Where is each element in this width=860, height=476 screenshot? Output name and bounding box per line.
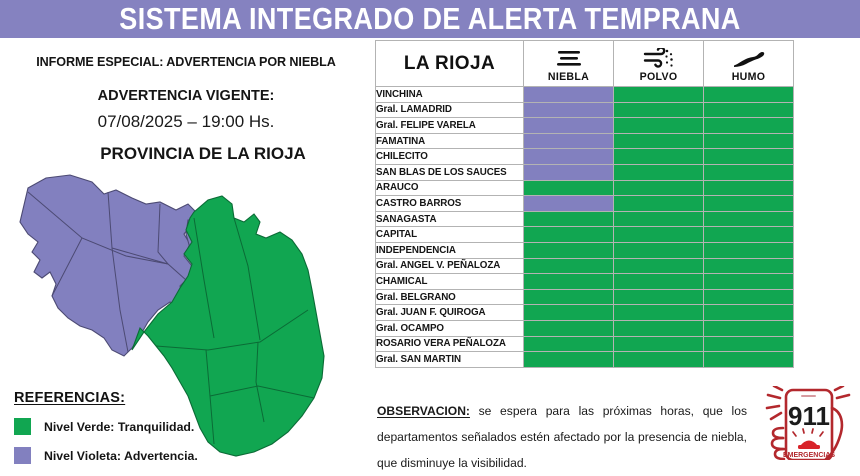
table-row: SANAGASTA xyxy=(376,211,794,227)
status-cell-niebla xyxy=(524,164,614,180)
table-row: ARAUCO xyxy=(376,180,794,196)
status-cell-humo xyxy=(704,274,794,290)
status-cell-polvo xyxy=(614,211,704,227)
status-cell-niebla xyxy=(524,289,614,305)
status-cell-humo xyxy=(704,196,794,212)
status-cell-humo xyxy=(704,320,794,336)
advisory-datetime: 07/08/2025 – 19:00 Hs. xyxy=(0,112,372,132)
references-title: REFERENCIAS: xyxy=(14,390,354,406)
status-cell-niebla xyxy=(524,87,614,103)
status-cell-humo xyxy=(704,211,794,227)
department-name: SANAGASTA xyxy=(376,211,524,227)
status-cell-niebla xyxy=(524,242,614,258)
table-row: SAN BLAS DE LOS SAUCES xyxy=(376,164,794,180)
status-cell-niebla xyxy=(524,336,614,352)
table-row: Gral. FELIPE VARELA xyxy=(376,118,794,134)
status-cell-polvo xyxy=(614,87,704,103)
department-name: Gral. OCAMPO xyxy=(376,320,524,336)
status-cell-polvo xyxy=(614,274,704,290)
status-cell-humo xyxy=(704,289,794,305)
legend-item-green: Nivel Verde: Tranquilidad. xyxy=(14,418,354,435)
status-cell-polvo xyxy=(614,242,704,258)
table-row: Gral. SAN MARTIN xyxy=(376,352,794,368)
department-name: Gral. ANGEL V. PEÑALOZA xyxy=(376,258,524,274)
department-name: CHILECITO xyxy=(376,149,524,165)
status-cell-polvo xyxy=(614,118,704,134)
status-cell-humo xyxy=(704,133,794,149)
observation-note: OBSERVACION: se espera para las próximas… xyxy=(377,398,747,476)
department-name: Gral. BELGRANO xyxy=(376,289,524,305)
status-cell-humo xyxy=(704,180,794,196)
column-header-niebla: NIEBLA xyxy=(524,41,614,87)
fog-icon xyxy=(554,47,584,71)
status-cell-humo xyxy=(704,102,794,118)
status-cell-humo xyxy=(704,352,794,368)
status-cell-humo xyxy=(704,227,794,243)
page-banner: SISTEMA INTEGRADO DE ALERTA TEMPRANA xyxy=(0,0,860,38)
status-cell-niebla xyxy=(524,274,614,290)
alert-table: LA RIOJA NIEBLA xyxy=(375,40,794,368)
left-panel: INFORME ESPECIAL: ADVERTENCIA POR NIEBLA… xyxy=(0,38,372,460)
status-cell-humo xyxy=(704,164,794,180)
green-swatch xyxy=(14,418,31,435)
status-cell-humo xyxy=(704,149,794,165)
status-cell-polvo xyxy=(614,352,704,368)
department-name: FAMATINA xyxy=(376,133,524,149)
status-cell-niebla xyxy=(524,227,614,243)
table-row: Gral. OCAMPO xyxy=(376,320,794,336)
department-name: Gral. JUAN F. QUIROGA xyxy=(376,305,524,321)
department-name: CAPITAL xyxy=(376,227,524,243)
department-name: Gral. FELIPE VARELA xyxy=(376,118,524,134)
status-cell-polvo xyxy=(614,133,704,149)
purple-swatch xyxy=(14,447,31,464)
table-row: Gral. LAMADRID xyxy=(376,102,794,118)
status-cell-polvo xyxy=(614,180,704,196)
table-row: CASTRO BARROS xyxy=(376,196,794,212)
status-cell-humo xyxy=(704,242,794,258)
status-cell-humo xyxy=(704,258,794,274)
legend-label-green: Nivel Verde: Tranquilidad. xyxy=(44,420,194,434)
logo-number: 911 xyxy=(788,401,830,431)
legend-item-purple: Nivel Violeta: Advertencia. xyxy=(14,447,354,464)
table-row: Gral. BELGRANO xyxy=(376,289,794,305)
department-name: CHAMICAL xyxy=(376,274,524,290)
advisory-active-label: ADVERTENCIA VIGENTE: xyxy=(0,88,372,104)
department-name: ROSARIO VERA PEÑALOZA xyxy=(376,336,524,352)
column-header-polvo: POLVO xyxy=(614,41,704,87)
column-label-niebla: NIEBLA xyxy=(548,71,589,84)
table-row: INDEPENDENCIA xyxy=(376,242,794,258)
status-cell-niebla xyxy=(524,211,614,227)
table-header-row: LA RIOJA NIEBLA xyxy=(376,41,794,87)
department-name: VINCHINA xyxy=(376,87,524,103)
status-cell-niebla xyxy=(524,258,614,274)
references-legend: REFERENCIAS: Nivel Verde: Tranquilidad. … xyxy=(14,390,354,464)
table-row: CHILECITO xyxy=(376,149,794,165)
legend-label-purple: Nivel Violeta: Advertencia. xyxy=(44,449,198,463)
status-cell-humo xyxy=(704,118,794,134)
status-cell-polvo xyxy=(614,196,704,212)
status-cell-polvo xyxy=(614,289,704,305)
table-row: CAPITAL xyxy=(376,227,794,243)
table-row: FAMATINA xyxy=(376,133,794,149)
status-cell-niebla xyxy=(524,102,614,118)
department-name: CASTRO BARROS xyxy=(376,196,524,212)
status-cell-niebla xyxy=(524,352,614,368)
table-row: Gral. JUAN F. QUIROGA xyxy=(376,305,794,321)
status-cell-humo xyxy=(704,87,794,103)
column-label-humo: HUMO xyxy=(732,71,766,84)
department-name: Gral. SAN MARTIN xyxy=(376,352,524,368)
report-subtitle: INFORME ESPECIAL: ADVERTENCIA POR NIEBLA xyxy=(0,55,372,69)
status-cell-polvo xyxy=(614,258,704,274)
table-row: ROSARIO VERA PEÑALOZA xyxy=(376,336,794,352)
status-cell-polvo xyxy=(614,320,704,336)
status-cell-humo xyxy=(704,305,794,321)
emergency-911-logo: 911 EMERGENCIAS xyxy=(752,386,856,460)
observation-label: OBSERVACION: xyxy=(377,404,470,418)
region-header: LA RIOJA xyxy=(376,41,524,87)
status-cell-niebla xyxy=(524,133,614,149)
department-name: INDEPENDENCIA xyxy=(376,242,524,258)
page-title: SISTEMA INTEGRADO DE ALERTA TEMPRANA xyxy=(119,2,740,37)
column-header-humo: HUMO xyxy=(704,41,794,87)
table-row: VINCHINA xyxy=(376,87,794,103)
status-cell-niebla xyxy=(524,149,614,165)
status-cell-polvo xyxy=(614,149,704,165)
status-cell-niebla xyxy=(524,180,614,196)
department-name: Gral. LAMADRID xyxy=(376,102,524,118)
status-cell-polvo xyxy=(614,227,704,243)
column-label-polvo: POLVO xyxy=(640,71,678,84)
table-row: CHAMICAL xyxy=(376,274,794,290)
status-cell-polvo xyxy=(614,164,704,180)
status-cell-polvo xyxy=(614,305,704,321)
status-cell-niebla xyxy=(524,320,614,336)
department-name: SAN BLAS DE LOS SAUCES xyxy=(376,164,524,180)
table-row: Gral. ANGEL V. PEÑALOZA xyxy=(376,258,794,274)
status-cell-niebla xyxy=(524,196,614,212)
wind-dust-icon xyxy=(643,47,675,71)
status-cell-polvo xyxy=(614,336,704,352)
status-cell-polvo xyxy=(614,102,704,118)
alert-table-container: LA RIOJA NIEBLA xyxy=(375,40,793,368)
status-cell-humo xyxy=(704,336,794,352)
status-cell-niebla xyxy=(524,305,614,321)
department-name: ARAUCO xyxy=(376,180,524,196)
status-cell-niebla xyxy=(524,118,614,134)
table-body: VINCHINAGral. LAMADRIDGral. FELIPE VAREL… xyxy=(376,87,794,368)
smoke-plume-icon xyxy=(732,47,766,71)
